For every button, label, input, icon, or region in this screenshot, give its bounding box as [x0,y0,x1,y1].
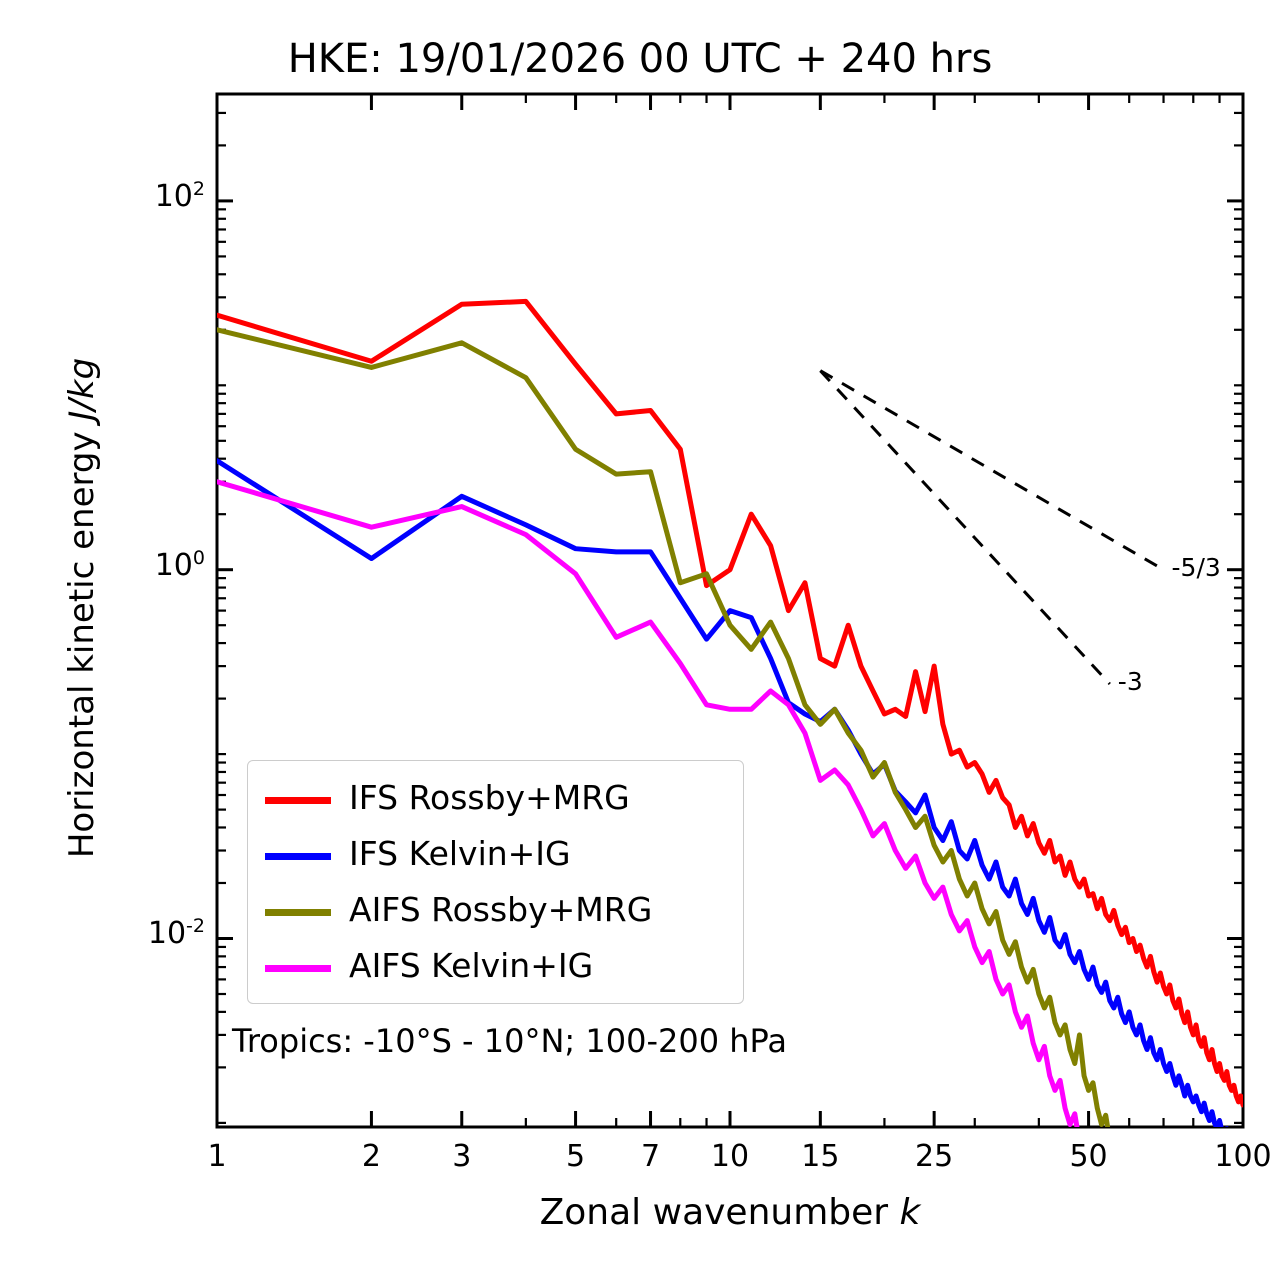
legend-item-label: IFS Kelvin+IG [349,834,571,873]
legend-item[interactable]: AIFS Rossby+MRG [248,884,743,940]
x-tick-label: 15 [770,1139,870,1174]
y-tick-label: 10-2 [148,915,205,951]
reference-line-five-thirds [820,371,1163,570]
x-tick-label: 10 [680,1139,780,1174]
legend-item-label: AIFS Kelvin+IG [349,946,593,985]
reference-line-minus-three [820,371,1109,684]
region-annotation: Tropics: -10°S - 10°N; 100-200 hPa [232,1022,787,1060]
y-tick-exponent: -2 [186,915,205,937]
x-tick-label: 1 [167,1139,267,1174]
reference-slope-label: -5/3 [1172,553,1221,582]
legend: IFS Rossby+MRGIFS Kelvin+IGAIFS Rossby+M… [247,760,744,1004]
x-tick-label: 25 [884,1139,984,1174]
legend-color-swatch [265,965,331,972]
x-tick-label: 100 [1193,1139,1280,1174]
legend-item-label: IFS Rossby+MRG [349,778,630,817]
figure-canvas: HKE: 19/01/2026 00 UTC + 240 hrs Horizon… [0,0,1280,1288]
y-tick-exponent: 2 [193,178,205,200]
x-tick-label: 50 [1039,1139,1139,1174]
legend-item[interactable]: IFS Kelvin+IG [248,828,743,884]
reference-slope-label: -3 [1118,667,1143,696]
legend-item[interactable]: AIFS Kelvin+IG [248,940,743,996]
legend-color-swatch [265,797,331,804]
legend-color-swatch [265,853,331,860]
y-tick-exponent: 0 [193,547,205,569]
legend-color-swatch [265,909,331,916]
legend-item-label: AIFS Rossby+MRG [349,890,652,929]
y-tick-label: 102 [155,178,205,214]
y-tick-label: 100 [155,547,205,583]
y-tick-mantissa: 10 [148,916,186,951]
y-tick-mantissa: 10 [155,548,193,583]
x-tick-label: 2 [321,1139,421,1174]
legend-item[interactable]: IFS Rossby+MRG [248,772,743,828]
y-tick-mantissa: 10 [155,179,193,214]
x-tick-label: 3 [412,1139,512,1174]
